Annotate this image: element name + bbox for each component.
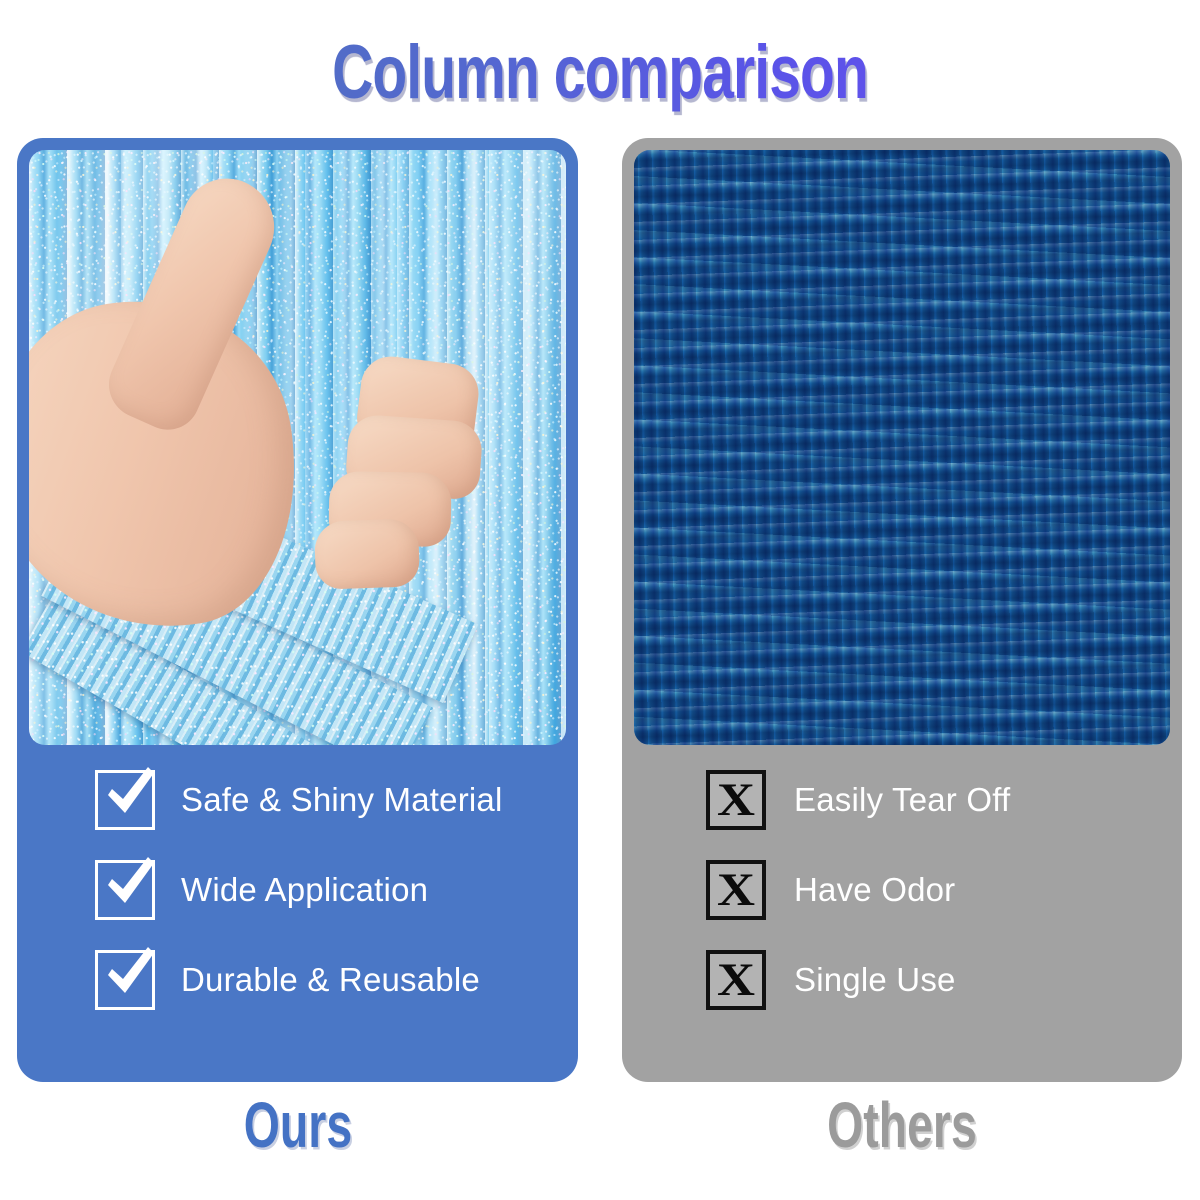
cross-icon: X: [706, 770, 766, 830]
feature-label: Single Use: [794, 962, 956, 998]
check-mark-glyph-icon: [96, 941, 162, 1007]
feature-row: X Single Use: [622, 950, 1182, 1010]
feature-label: Easily Tear Off: [794, 782, 1010, 818]
cross-icon: X: [706, 860, 766, 920]
feature-label: Have Odor: [794, 872, 955, 908]
feature-label: Wide Application: [181, 872, 428, 908]
feature-row: Safe & Shiny Material: [17, 770, 578, 830]
column-footer-label-others: Others: [646, 1093, 1159, 1159]
cross-mark-glyph-icon: X: [707, 954, 765, 1006]
comparison-card-others: X Easily Tear Off X Have Odor X Single U…: [622, 138, 1182, 1082]
feature-row: X Have Odor: [622, 860, 1182, 920]
comparison-card-ours: Safe & Shiny Material Wide Application D…: [17, 138, 578, 1082]
page-title: Column comparison: [48, 36, 1152, 112]
check-mark-glyph-icon: [96, 761, 162, 827]
feature-label: Durable & Reusable: [181, 962, 480, 998]
cross-mark-glyph-icon: X: [707, 774, 765, 826]
product-photo-ours: [29, 150, 566, 745]
feature-row: Durable & Reusable: [17, 950, 578, 1010]
feature-row: Wide Application: [17, 860, 578, 920]
cross-mark-glyph-icon: X: [707, 864, 765, 916]
check-mark-glyph-icon: [96, 851, 162, 917]
feature-label: Safe & Shiny Material: [181, 782, 503, 818]
foil-strip-shadow-overlay-icon: [634, 150, 1170, 745]
hand-finger-pinky-icon: [314, 518, 420, 590]
check-icon: [95, 770, 155, 830]
feature-row: X Easily Tear Off: [622, 770, 1182, 830]
check-icon: [95, 860, 155, 920]
cross-icon: X: [706, 950, 766, 1010]
feature-list-others: X Easily Tear Off X Have Odor X Single U…: [622, 770, 1182, 1040]
column-footer-label-ours: Ours: [42, 1093, 555, 1159]
feature-list-ours: Safe & Shiny Material Wide Application D…: [17, 770, 578, 1040]
check-icon: [95, 950, 155, 1010]
product-photo-others: [634, 150, 1170, 745]
